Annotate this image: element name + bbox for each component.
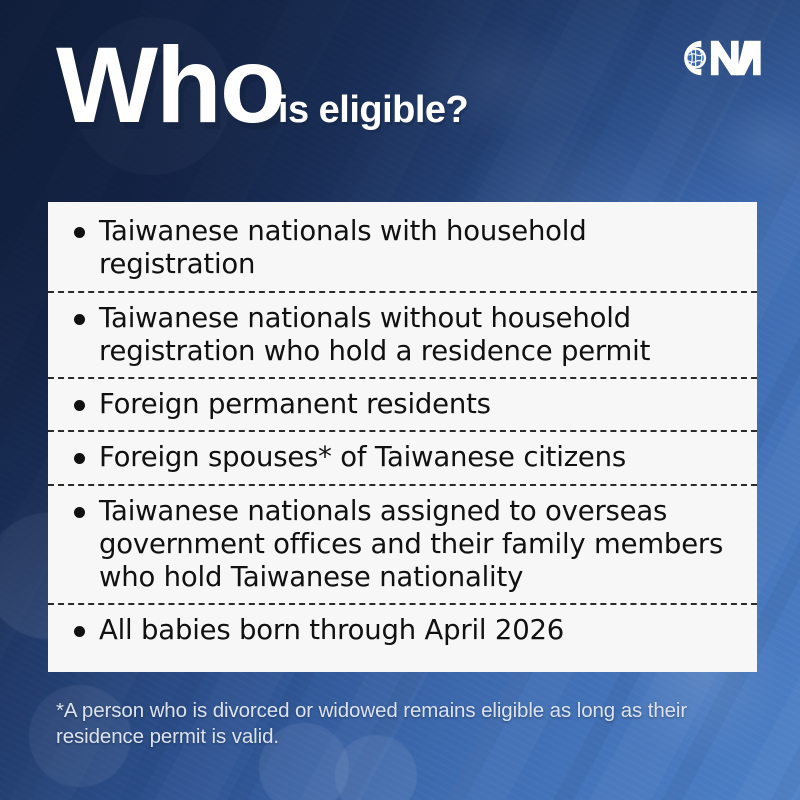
bullet-icon: [74, 626, 85, 637]
footnote-text: *A person who is divorced or widowed rem…: [56, 698, 762, 750]
title-sub-text: is eligible?: [278, 91, 468, 137]
list-item-label: All babies born through April 2026: [99, 614, 564, 647]
list-item-label: Foreign permanent residents: [99, 388, 491, 421]
list-item-label: Taiwanese nationals assigned to overseas…: [99, 495, 743, 595]
list-item-label: Taiwanese nationals without household re…: [99, 302, 743, 369]
page-title: Who is eligible?: [56, 34, 468, 137]
list-item: All babies born through April 2026: [48, 605, 757, 656]
bullet-icon: [74, 507, 85, 518]
bullet-icon: [74, 453, 85, 464]
list-item-label: Foreign spouses* of Taiwanese citizens: [99, 441, 626, 474]
cna-logo-icon: [674, 36, 766, 80]
title-main-text: Who: [56, 34, 284, 137]
list-item: Taiwanese nationals without household re…: [48, 293, 757, 380]
bullet-icon: [74, 314, 85, 325]
list-item: Taiwanese nationals with household regis…: [48, 206, 757, 293]
eligibility-card: Taiwanese nationals with household regis…: [48, 202, 757, 672]
bullet-icon: [74, 227, 85, 238]
bullet-icon: [74, 400, 85, 411]
infographic-poster: Who is eligible? Taiwanese nationals wit…: [0, 0, 800, 800]
list-item: Taiwanese nationals assigned to overseas…: [48, 486, 757, 606]
cna-logo: [674, 36, 766, 80]
list-item-label: Taiwanese nationals with household regis…: [99, 215, 743, 282]
list-item: Foreign permanent residents: [48, 379, 757, 432]
list-item: Foreign spouses* of Taiwanese citizens: [48, 432, 757, 485]
poster-header: Who is eligible?: [0, 0, 800, 200]
